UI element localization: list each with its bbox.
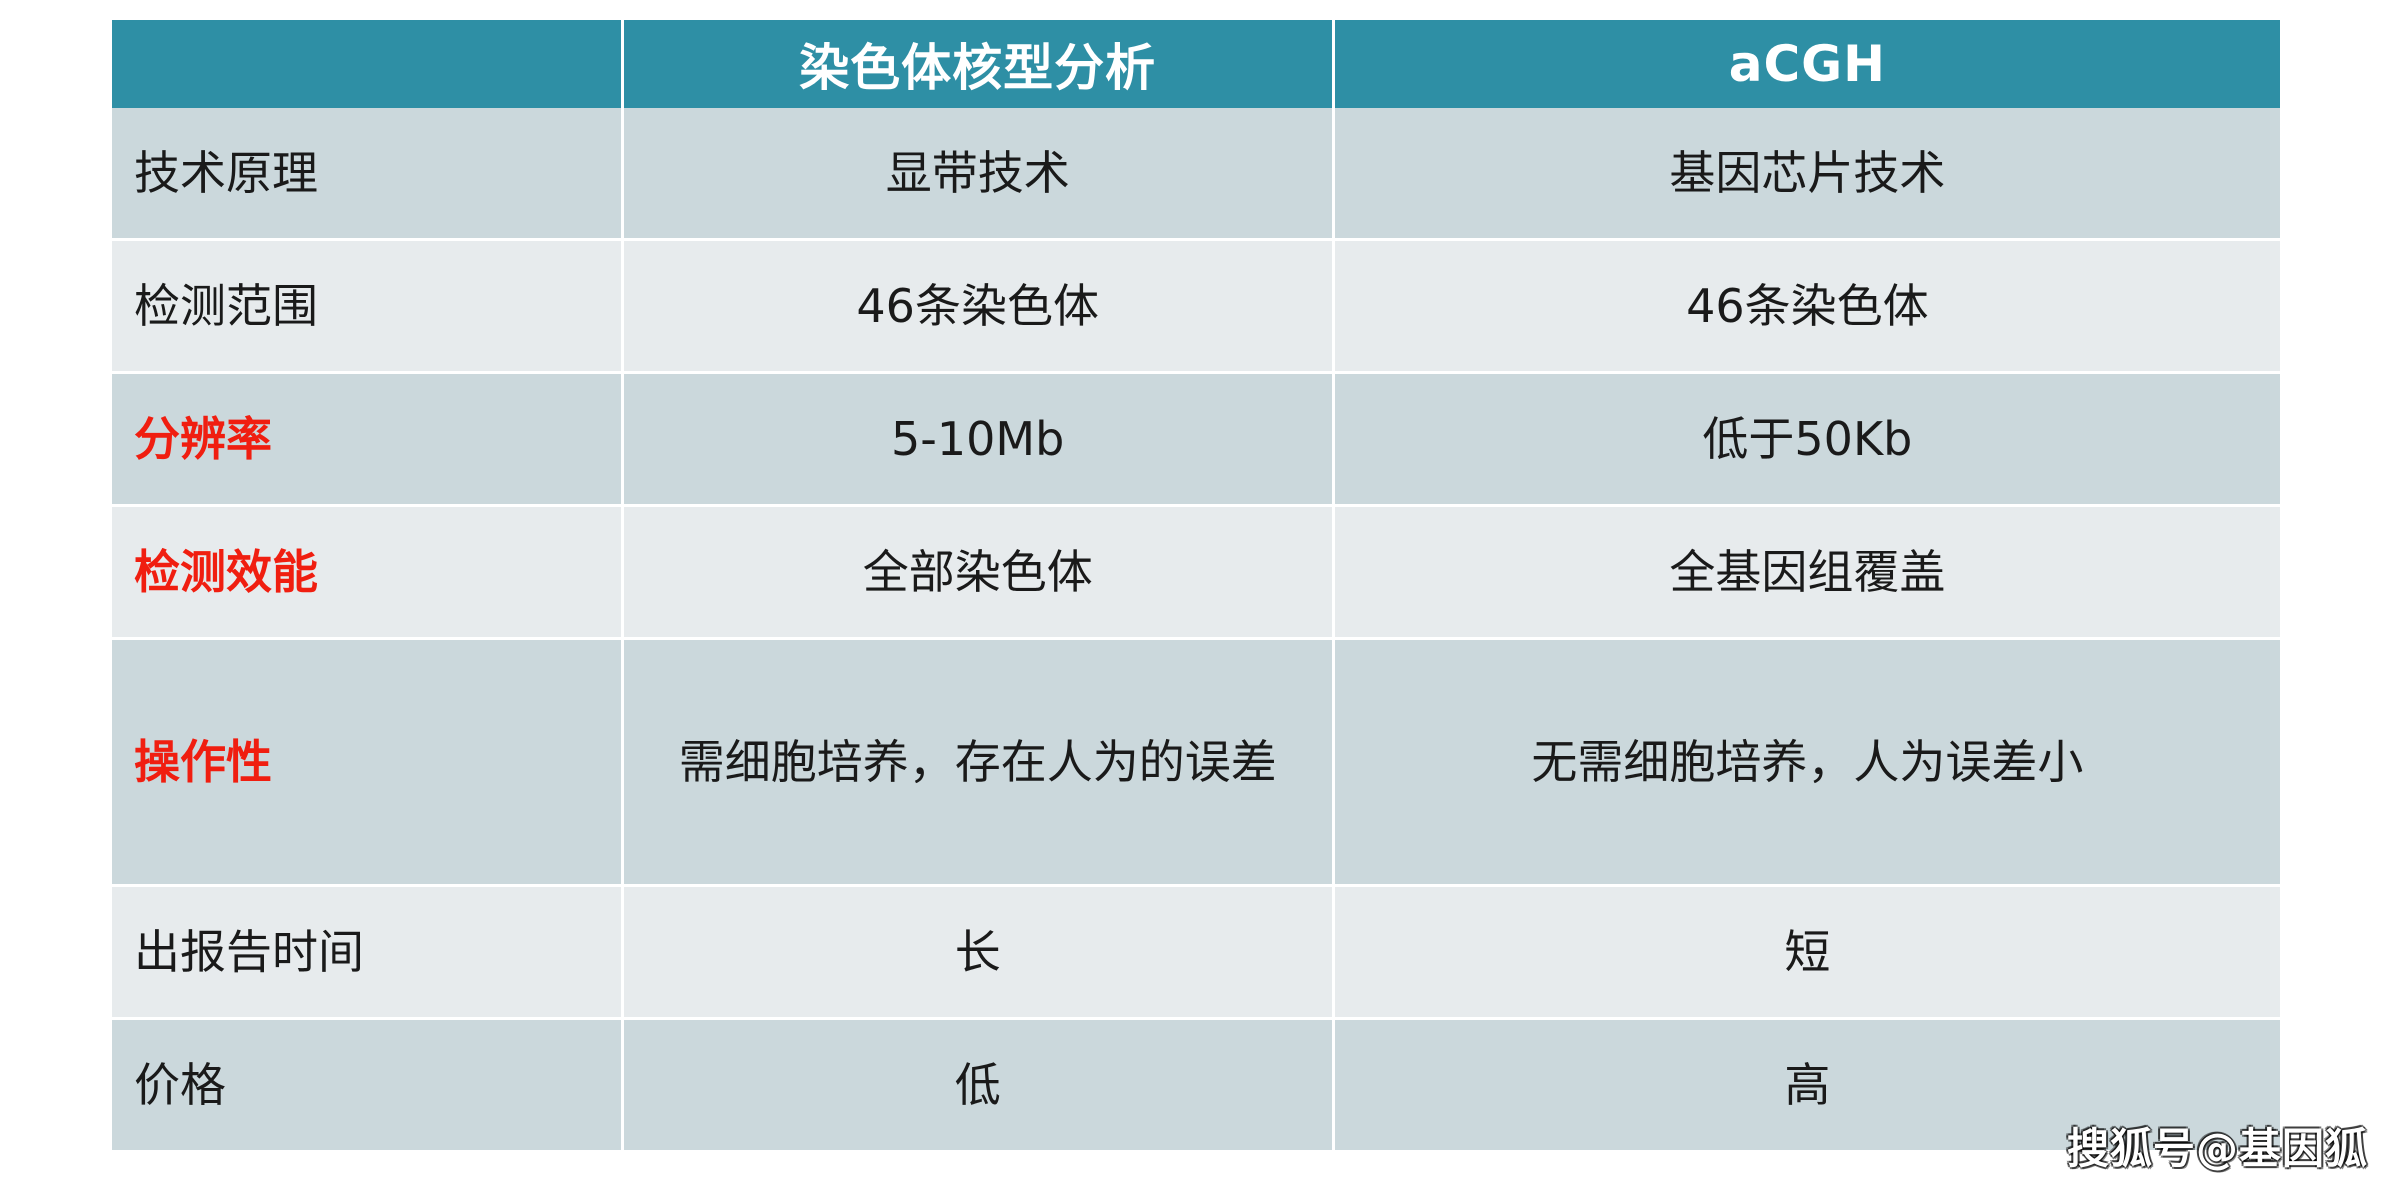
row-label-technology-principle: 技术原理 xyxy=(112,108,624,241)
table-row: 操作性 需细胞培养，存在人为的误差 无需细胞培养，人为误差小 xyxy=(112,640,2280,887)
row-label-report-turnaround: 出报告时间 xyxy=(112,887,624,1020)
header-cell-karyotype: 染色体核型分析 xyxy=(624,20,1335,108)
cell-karyotype-detection-performance: 全部染色体 xyxy=(624,507,1335,640)
table-row: 出报告时间 长 短 xyxy=(112,887,2280,1020)
cell-acgh-resolution: 低于50Kb xyxy=(1335,374,2280,507)
table-body: 技术原理 显带技术 基因芯片技术 检测范围 46条染色体 46条染色体 分辨率 … xyxy=(112,108,2280,1150)
header-cell-acgh: aCGH xyxy=(1335,20,2280,108)
comparison-table-container: 染色体核型分析 aCGH 技术原理 显带技术 基因芯片技术 检测范围 46条染色… xyxy=(112,20,2280,1150)
table-header: 染色体核型分析 aCGH xyxy=(112,20,2280,108)
header-cell-blank xyxy=(112,20,624,108)
cell-karyotype-price: 低 xyxy=(624,1020,1335,1150)
header-row: 染色体核型分析 aCGH xyxy=(112,20,2280,108)
row-label-detection-performance: 检测效能 xyxy=(112,507,624,640)
row-label-price: 价格 xyxy=(112,1020,624,1150)
cell-karyotype-report-turnaround: 长 xyxy=(624,887,1335,1020)
cell-acgh-detection-range: 46条染色体 xyxy=(1335,241,2280,374)
table-row: 检测范围 46条染色体 46条染色体 xyxy=(112,241,2280,374)
cell-karyotype-operability: 需细胞培养，存在人为的误差 xyxy=(624,640,1335,887)
table-row: 检测效能 全部染色体 全基因组覆盖 xyxy=(112,507,2280,640)
cell-acgh-operability: 无需细胞培养，人为误差小 xyxy=(1335,640,2280,887)
cell-acgh-report-turnaround: 短 xyxy=(1335,887,2280,1020)
row-label-resolution: 分辨率 xyxy=(112,374,624,507)
cell-karyotype-resolution: 5-10Mb xyxy=(624,374,1335,507)
page-root: 染色体核型分析 aCGH 技术原理 显带技术 基因芯片技术 检测范围 46条染色… xyxy=(0,0,2386,1200)
cell-karyotype-technology-principle: 显带技术 xyxy=(624,108,1335,241)
row-label-detection-range: 检测范围 xyxy=(112,241,624,374)
cell-karyotype-detection-range: 46条染色体 xyxy=(624,241,1335,374)
comparison-table: 染色体核型分析 aCGH 技术原理 显带技术 基因芯片技术 检测范围 46条染色… xyxy=(112,20,2280,1150)
cell-acgh-detection-performance: 全基因组覆盖 xyxy=(1335,507,2280,640)
table-row: 分辨率 5-10Mb 低于50Kb xyxy=(112,374,2280,507)
table-row: 价格 低 高 xyxy=(112,1020,2280,1150)
table-row: 技术原理 显带技术 基因芯片技术 xyxy=(112,108,2280,241)
row-label-operability: 操作性 xyxy=(112,640,624,887)
cell-acgh-price: 高 xyxy=(1335,1020,2280,1150)
cell-acgh-technology-principle: 基因芯片技术 xyxy=(1335,108,2280,241)
